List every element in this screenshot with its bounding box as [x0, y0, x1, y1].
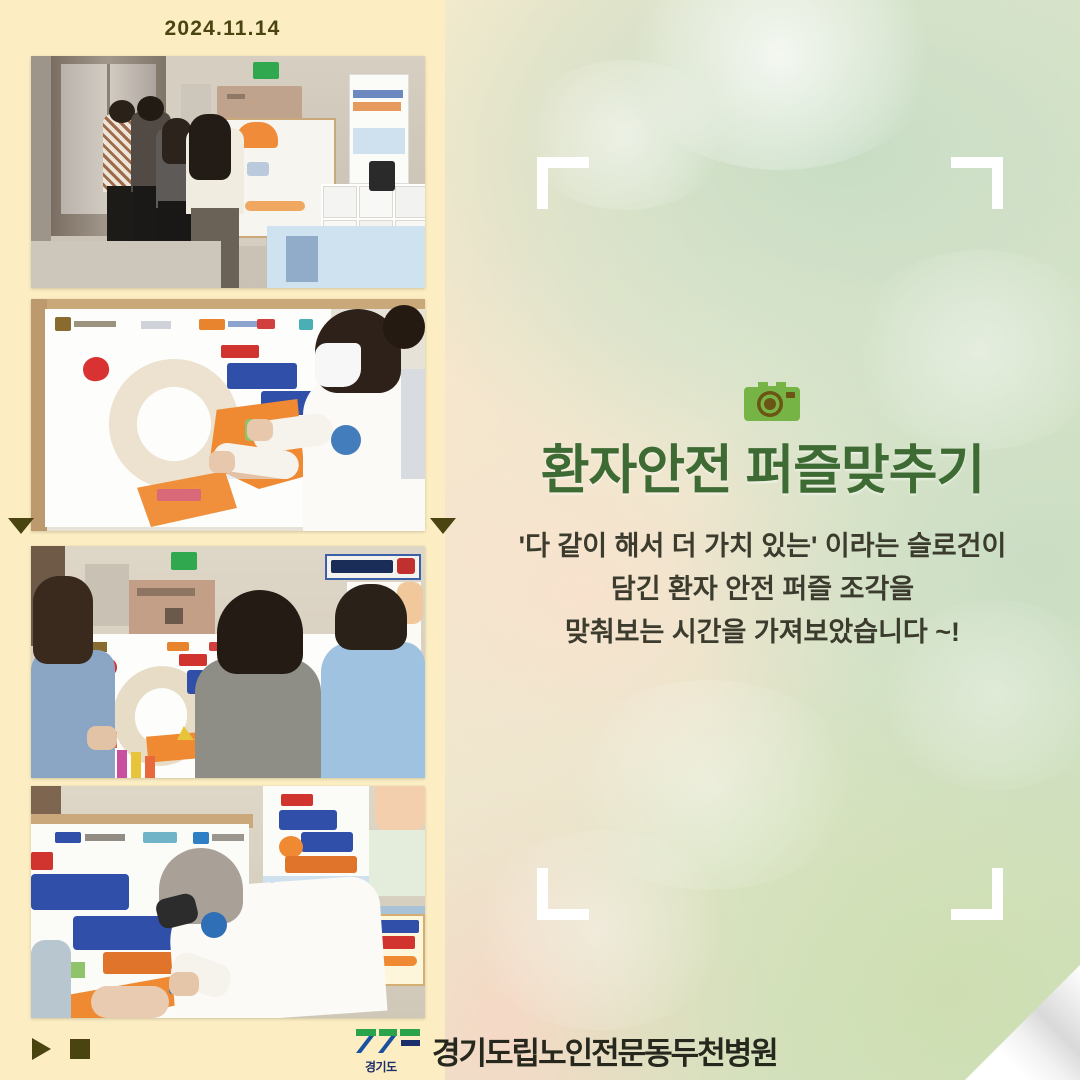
photo-element	[55, 317, 71, 331]
photo-element	[199, 319, 225, 330]
corner-bracket-bottom-right	[951, 868, 1003, 920]
photo-element	[395, 186, 425, 218]
page-curl-decoration	[965, 965, 1080, 1080]
photo-element	[301, 832, 353, 852]
gyeonggi-do-label: 경기도	[365, 1058, 397, 1075]
photo-element	[369, 830, 425, 896]
photo-element	[31, 299, 425, 309]
exit-sign	[171, 552, 197, 570]
photo-element	[401, 369, 425, 479]
photo-element	[141, 321, 171, 329]
person	[31, 940, 71, 1018]
person	[33, 576, 93, 664]
person-hand	[169, 972, 199, 996]
page-title: 환자안전 퍼즐맞추기	[445, 428, 1080, 504]
person-hand	[91, 986, 169, 1018]
photo-element	[103, 952, 177, 974]
cloud-wisp	[560, 680, 860, 890]
photo-element	[55, 832, 81, 843]
photo-element	[257, 319, 275, 329]
photo-element	[157, 489, 201, 501]
person	[195, 658, 321, 778]
person-nurse	[383, 305, 425, 349]
face-mask	[315, 343, 361, 387]
photo-thumbnail-2[interactable]	[31, 299, 425, 531]
photo-element	[221, 345, 259, 358]
photo-thumbnail-1[interactable]	[31, 56, 425, 288]
photo-element	[323, 186, 357, 218]
photo-element	[212, 834, 244, 841]
photo-element	[31, 874, 129, 910]
photo-element	[227, 94, 245, 99]
person-hand	[87, 726, 117, 750]
person	[321, 642, 425, 778]
photo-element	[247, 162, 269, 176]
cloud-wisp	[470, 830, 730, 1030]
person	[189, 114, 231, 180]
photo-element	[117, 750, 127, 778]
photo-element	[131, 752, 141, 778]
photo-element	[331, 560, 393, 573]
hospital-name: 경기도립노인전문동두천병원	[432, 1028, 777, 1073]
gyeonggi-do-logo-icon: 경기도	[355, 1027, 421, 1073]
photo-element	[353, 102, 401, 111]
person-nurse-hand	[247, 419, 273, 441]
puzzle-piece	[245, 201, 305, 211]
play-icon[interactable]	[32, 1038, 51, 1060]
photo-element	[353, 90, 403, 98]
person	[137, 96, 164, 121]
photo-thumbnail-3[interactable]	[31, 546, 425, 778]
photo-element	[143, 832, 177, 843]
photo-element	[137, 588, 195, 596]
cloud-wisp	[620, 0, 940, 170]
photo-element	[193, 832, 209, 844]
photo-element	[331, 425, 361, 455]
body-text: '다 같이 해서 더 가치 있는' 이라는 슬로건이 담긴 환자 안전 퍼즐 조…	[445, 525, 1080, 654]
photo-element	[279, 836, 303, 858]
photo-element	[179, 654, 207, 666]
photo-element	[227, 363, 297, 389]
stop-icon[interactable]	[70, 1039, 90, 1059]
person	[335, 584, 407, 650]
cloud-wisp	[850, 250, 1080, 450]
triangle-marker-left[interactable]	[8, 518, 34, 534]
photo-element	[74, 321, 116, 327]
photo-element	[299, 319, 313, 330]
photo-element	[397, 558, 415, 574]
photo-element	[281, 794, 313, 806]
photo-element	[353, 128, 405, 154]
promo-card: 2024.11.14	[0, 0, 1080, 1080]
photo-element	[375, 786, 425, 830]
body-line-1: '다 같이 해서 더 가치 있는' 이라는 슬로건이	[445, 525, 1080, 568]
footer-logo: 경기도 경기도립노인전문동두천병원	[355, 1027, 777, 1073]
photo-element	[85, 834, 125, 841]
exit-sign	[253, 62, 279, 79]
corner-bracket-top-left	[537, 157, 589, 209]
body-line-2: 담긴 환자 안전 퍼즐 조각을	[445, 568, 1080, 611]
corner-bracket-bottom-left	[537, 868, 589, 920]
photo-element	[285, 856, 357, 873]
corner-bracket-top-right	[951, 157, 1003, 209]
photo-element	[279, 810, 337, 830]
photo-element	[369, 161, 395, 191]
photo-element	[167, 642, 189, 651]
date-label: 2024.11.14	[0, 17, 445, 41]
photo-element	[145, 756, 155, 778]
photo-element	[286, 236, 318, 282]
photo-element	[31, 241, 221, 288]
photo-element	[165, 608, 183, 624]
photo-element	[201, 912, 227, 938]
photo-thumbnail-4[interactable]	[31, 786, 425, 1018]
photo-element	[31, 852, 53, 870]
person	[31, 650, 115, 778]
body-line-3: 맞춰보는 시간을 가져보았습니다 ~!	[445, 611, 1080, 654]
person	[217, 590, 303, 674]
camera-icon	[744, 378, 800, 422]
person-nurse-hand	[209, 451, 235, 473]
